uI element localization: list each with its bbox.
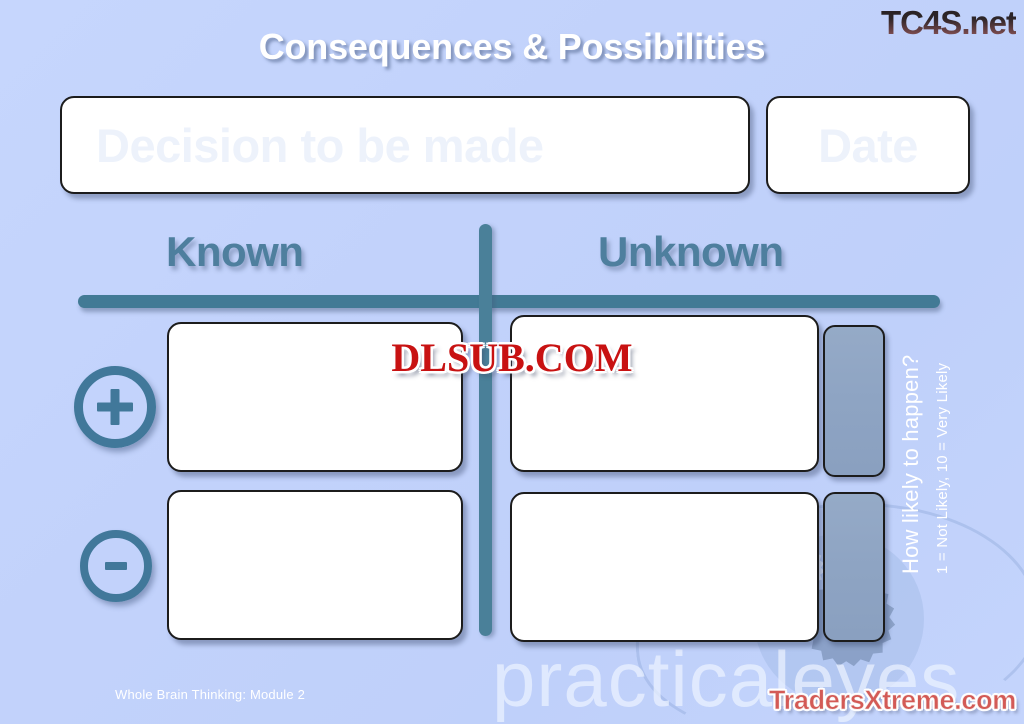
module-footer-label: Whole Brain Thinking: Module 2 [115,687,305,702]
rating-input-negative[interactable] [823,492,885,642]
minus-icon [80,530,152,602]
column-heading-unknown: Unknown [598,228,783,276]
decision-input-placeholder: Decision to be made [62,118,544,173]
plus-glyph [83,375,147,439]
worksheet-canvas: practicaleyes Consequences & Possibiliti… [0,0,1024,724]
site-tag-bottom-watermark: TradersXtreme.com [769,685,1016,716]
vertical-axis-rule [479,224,492,636]
page-title: Consequences & Possibilities [0,26,1024,68]
likelihood-legend-primary: How likely to happen? [900,355,922,574]
plus-icon [74,366,156,448]
date-input[interactable]: Date [766,96,970,194]
cell-unknown-negative[interactable] [510,492,819,642]
date-input-placeholder: Date [818,118,918,173]
likelihood-legend: How likely to happen? 1 = Not Likely, 10… [892,312,958,574]
cell-known-positive[interactable] [167,322,463,472]
horizontal-axis-rule [78,295,940,308]
minus-glyph [88,538,144,594]
decision-input[interactable]: Decision to be made [60,96,750,194]
column-heading-known: Known [166,228,303,276]
cell-unknown-positive[interactable] [510,315,819,472]
rating-input-positive[interactable] [823,325,885,477]
site-tag-top-watermark: TC4S.net [881,4,1016,42]
cell-known-negative[interactable] [167,490,463,640]
likelihood-legend-secondary: 1 = Not Likely, 10 = Very Likely [935,363,950,574]
